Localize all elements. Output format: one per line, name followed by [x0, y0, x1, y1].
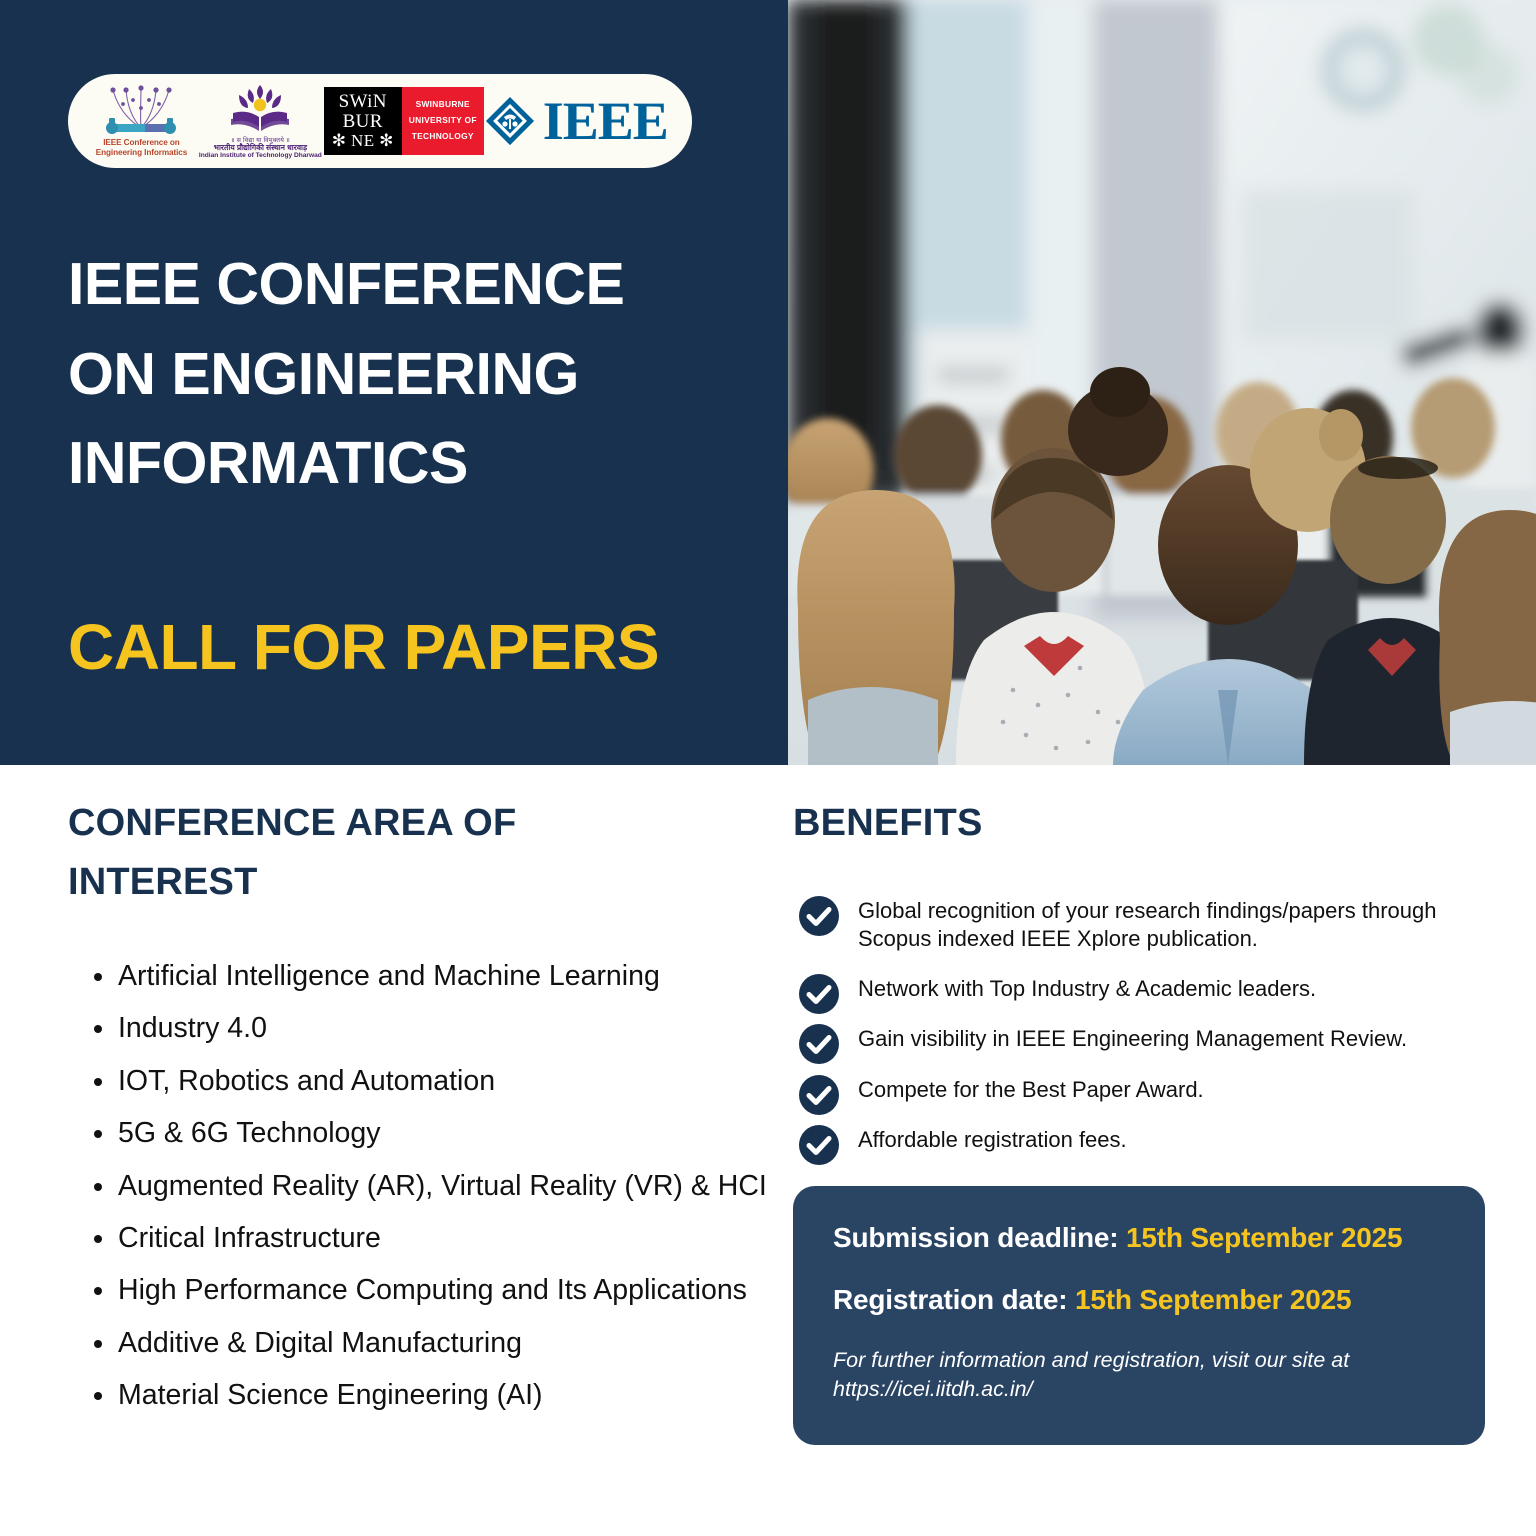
- list-item: 5G & 6G Technology: [68, 1109, 768, 1157]
- iitdh-english-name: Indian Institute of Technology Dharwad: [199, 152, 322, 160]
- registration-date-value: 15th September 2025: [1075, 1284, 1351, 1315]
- benefit-text: Global recognition of your research find…: [858, 898, 1436, 951]
- conference-website-url[interactable]: https://icei.iitdh.ac.in/: [833, 1377, 1033, 1401]
- further-information-note: For further information and registration…: [833, 1346, 1445, 1405]
- list-item: Network with Top Industry & Academic lea…: [793, 975, 1503, 1003]
- note-line-1: For further information and registration…: [833, 1348, 1349, 1372]
- deadline-card: Submission deadline: 15th September 2025…: [793, 1186, 1485, 1445]
- benefits-list: Global recognition of your research find…: [793, 897, 1503, 1154]
- iitdh-hindi-name: भारतीय प्रौद्योगिकी संस्थान धारवाड़: [214, 144, 307, 152]
- list-item: Affordable registration fees.: [793, 1126, 1503, 1154]
- submission-deadline-label: Submission deadline:: [833, 1222, 1118, 1253]
- check-circle-icon: [798, 973, 840, 1015]
- list-item: Global recognition of your research find…: [793, 897, 1503, 953]
- sponsor-logo-bar: IEEE Conference on Engineering Informati…: [68, 74, 692, 168]
- title-line-3: INFORMATICS: [68, 419, 768, 509]
- iit-dharwad-logo: ॥ स विद्या या विमुक्तये ॥ भारतीय प्रौद्य…: [197, 83, 324, 160]
- interest-list: Artificial Intelligence and Machine Lear…: [68, 952, 768, 1420]
- check-circle-icon: [798, 895, 840, 937]
- benefit-text: Affordable registration fees.: [858, 1127, 1127, 1152]
- check-circle-icon: [798, 1074, 840, 1116]
- list-item: Material Science Engineering (AI): [68, 1371, 768, 1419]
- swinburne-university-logo: SWiN BUR ✻ NE ✻ SWINBURNE UNIVERSITY OF …: [324, 87, 484, 155]
- swinburne-star-left: ✻: [332, 131, 347, 150]
- submission-deadline-row: Submission deadline: 15th September 2025: [833, 1222, 1445, 1254]
- benefit-text: Compete for the Best Paper Award.: [858, 1077, 1204, 1102]
- check-circle-icon: [798, 1023, 840, 1065]
- conference-audience-photo: [788, 0, 1536, 765]
- poster-body: CONFERENCE AREA OF INTEREST Artificial I…: [0, 765, 1536, 1536]
- icei-logo-caption: IEEE Conference on Engineering Informati…: [96, 138, 187, 157]
- registration-date-label: Registration date:: [833, 1284, 1067, 1315]
- submission-deadline-value: 15th September 2025: [1126, 1222, 1402, 1253]
- interest-heading: CONFERENCE AREA OF INTEREST: [68, 794, 628, 912]
- poster-title: IEEE CONFERENCE ON ENGINEERING INFORMATI…: [68, 240, 768, 509]
- benefit-text: Network with Top Industry & Academic lea…: [858, 976, 1316, 1001]
- swinburne-star-right: ✻: [379, 131, 394, 150]
- swinburne-black-block: SWiN BUR ✻ NE ✻: [324, 87, 402, 155]
- swinburne-red-block: SWINBURNE UNIVERSITY OF TECHNOLOGY: [402, 87, 484, 155]
- list-item: High Performance Computing and Its Appli…: [68, 1266, 768, 1314]
- title-line-2: ON ENGINEERING: [68, 330, 768, 420]
- ieee-wordmark: IEEE: [543, 94, 668, 148]
- list-item: Critical Infrastructure: [68, 1214, 768, 1262]
- list-item: Augmented Reality (AR), Virtual Reality …: [68, 1162, 768, 1210]
- check-circle-icon: [798, 1124, 840, 1166]
- iitdh-lotus-book-icon: [229, 83, 291, 133]
- ieee-logo: IEEE: [484, 94, 670, 148]
- list-item: Compete for the Best Paper Award.: [793, 1076, 1503, 1104]
- call-for-papers-headline: CALL FOR PAPERS: [68, 610, 659, 684]
- ieee-conference-on-engineering-informatics-logo: IEEE Conference on Engineering Informati…: [86, 84, 197, 157]
- registration-date-row: Registration date: 15th September 2025: [833, 1284, 1445, 1316]
- benefits-heading: BENEFITS: [793, 794, 1503, 853]
- title-line-1: IEEE CONFERENCE: [68, 240, 768, 330]
- list-item: Industry 4.0: [68, 1004, 768, 1052]
- conference-area-of-interest-section: CONFERENCE AREA OF INTEREST Artificial I…: [68, 765, 768, 1424]
- benefits-section: BENEFITS Global recognition of your rese…: [793, 765, 1503, 1445]
- poster-header: IEEE Conference on Engineering Informati…: [0, 0, 1536, 765]
- benefit-text: Gain visibility in IEEE Engineering Mana…: [858, 1026, 1407, 1051]
- list-item: Additive & Digital Manufacturing: [68, 1319, 768, 1367]
- list-item: IOT, Robotics and Automation: [68, 1057, 768, 1105]
- list-item: Artificial Intelligence and Machine Lear…: [68, 952, 768, 1000]
- conference-call-for-papers-poster: IEEE Conference on Engineering Informati…: [0, 0, 1536, 1536]
- list-item: Gain visibility in IEEE Engineering Mana…: [793, 1025, 1503, 1053]
- icei-mark-icon: [99, 84, 183, 136]
- ieee-diamond-icon: [484, 95, 536, 147]
